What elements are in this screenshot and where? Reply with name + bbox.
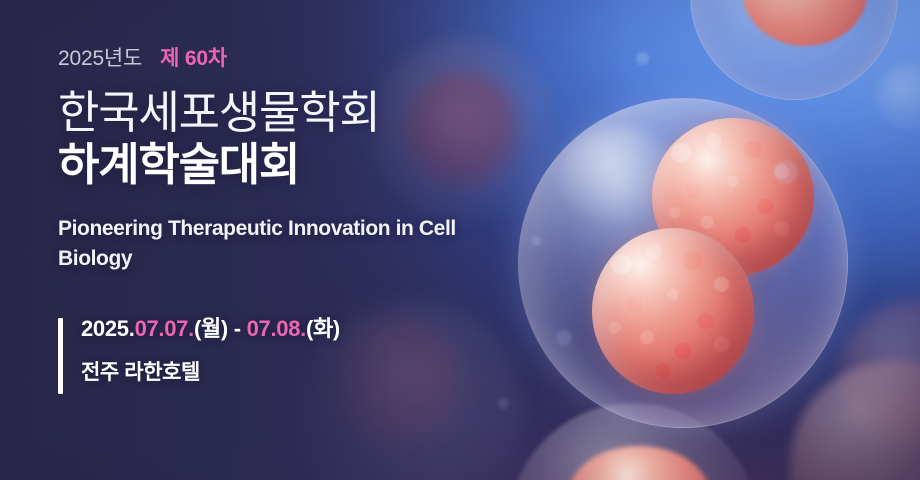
date-start-day: (월) — [194, 316, 228, 341]
date-end-day: (화) — [306, 316, 340, 341]
event-meta: 2025.07.07.(월) - 07.08.(화) 전주 라한호텔 — [58, 316, 520, 394]
eyebrow-year: 2025년도 — [58, 48, 142, 69]
date-year: 2025. — [81, 316, 135, 341]
event-venue: 전주 라한호텔 — [81, 362, 340, 383]
date-separator: - — [234, 316, 241, 341]
banner-subtitle: Pioneering Therapeutic Innovation in Cel… — [58, 214, 498, 274]
conference-banner: 2025년도 제 60차 한국세포생물학회 하계학술대회 Pioneering … — [0, 0, 920, 480]
page-title-event: 하계학술대회 — [58, 140, 520, 190]
event-date: 2025.07.07.(월) - 07.08.(화) — [81, 318, 340, 340]
eyebrow-ordinal: 제 60차 — [160, 48, 227, 69]
page-title-society: 한국세포생물학회 — [58, 89, 520, 138]
meta-accent-bar — [58, 318, 63, 394]
banner-content: 2025년도 제 60차 한국세포생물학회 하계학술대회 Pioneering … — [0, 0, 520, 480]
date-end: 07.08. — [247, 316, 306, 341]
eyebrow-line: 2025년도 제 60차 — [58, 48, 520, 69]
meta-text-group: 2025.07.07.(월) - 07.08.(화) 전주 라한호텔 — [81, 316, 340, 383]
date-start: 07.07. — [135, 316, 194, 341]
